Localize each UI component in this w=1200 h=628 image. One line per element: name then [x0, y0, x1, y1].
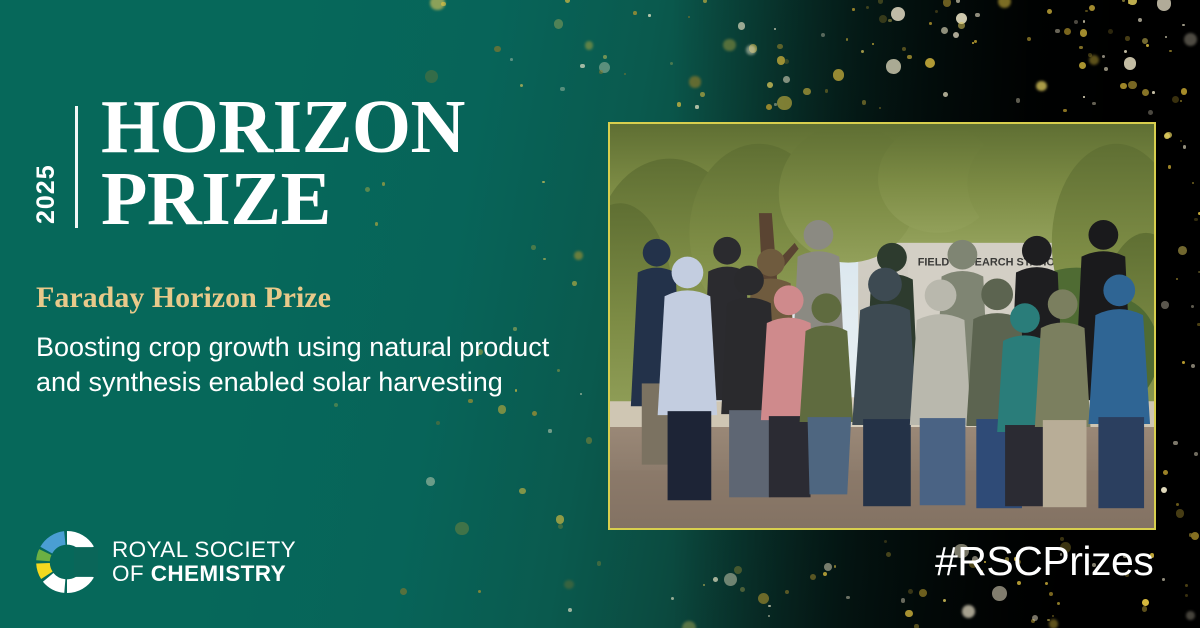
logo-line-2-light: OF — [112, 561, 151, 586]
title-block: 2025 HORIZON PRIZE — [34, 100, 465, 235]
left-content-column: 2025 HORIZON PRIZE Faraday Horizon Prize… — [0, 0, 600, 628]
rsc-logo-mark-icon — [36, 531, 98, 593]
rsc-logo-text: ROYAL SOCIETY OF CHEMISTRY — [112, 538, 296, 586]
award-description: Boosting crop growth using natural produ… — [36, 330, 581, 399]
page-title: HORIZON PRIZE — [101, 91, 465, 235]
title-divider-line — [75, 106, 78, 228]
logo-line-2-bold: CHEMISTRY — [151, 561, 286, 586]
rsc-logo: ROYAL SOCIETY OF CHEMISTRY — [36, 531, 296, 593]
title-line-2: PRIZE — [101, 163, 465, 235]
prize-poster: 2025 HORIZON PRIZE Faraday Horizon Prize… — [0, 0, 1200, 628]
award-name: Faraday Horizon Prize — [36, 281, 331, 315]
hashtag: #RSCPrizes — [935, 538, 1153, 585]
team-photo: SynTech Research Spain R & D for Agricul… — [608, 122, 1156, 530]
title-line-1: HORIZON — [101, 91, 465, 163]
year-label: 2025 — [34, 104, 59, 224]
logo-line-2: OF CHEMISTRY — [112, 562, 296, 586]
logo-line-1: ROYAL SOCIETY — [112, 538, 296, 562]
